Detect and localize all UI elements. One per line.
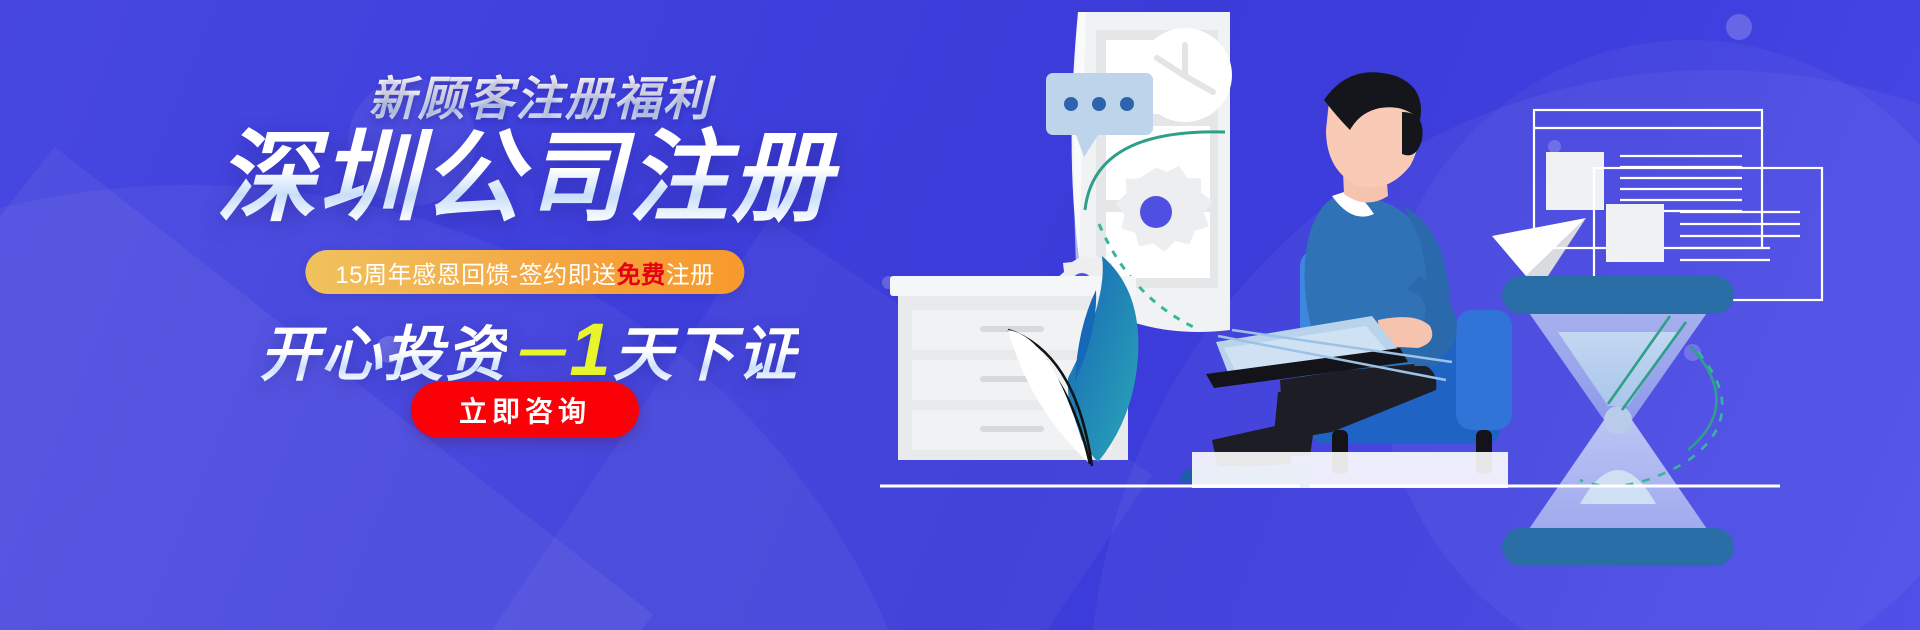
banner-illustration [880,0,1920,630]
promo-badge-lead: 15周年感恩回馈-签约即送 [335,255,616,290]
tagline-number: 1 [569,308,612,391]
tagline-dash: － [507,321,569,388]
promo-badge-trail: 注册 [666,255,715,290]
document-card-top-content [1546,152,1742,211]
consult-now-button[interactable]: 立即咨询 [411,382,639,438]
promo-badge: 15周年感恩回馈-签约即送免费注册 [305,250,744,294]
promo-badge-highlight: 免费 [617,255,666,290]
tagline-part-two: 天下证 [613,321,799,388]
hourglass [1502,276,1734,566]
document-card-bottom-content [1606,204,1800,262]
promo-banner: 新顾客注册福利 深圳公司注册 15周年感恩回馈-签约即送免费注册 开心投资－1天… [0,0,1920,630]
tagline-part-one: 开心投资 [259,321,507,388]
